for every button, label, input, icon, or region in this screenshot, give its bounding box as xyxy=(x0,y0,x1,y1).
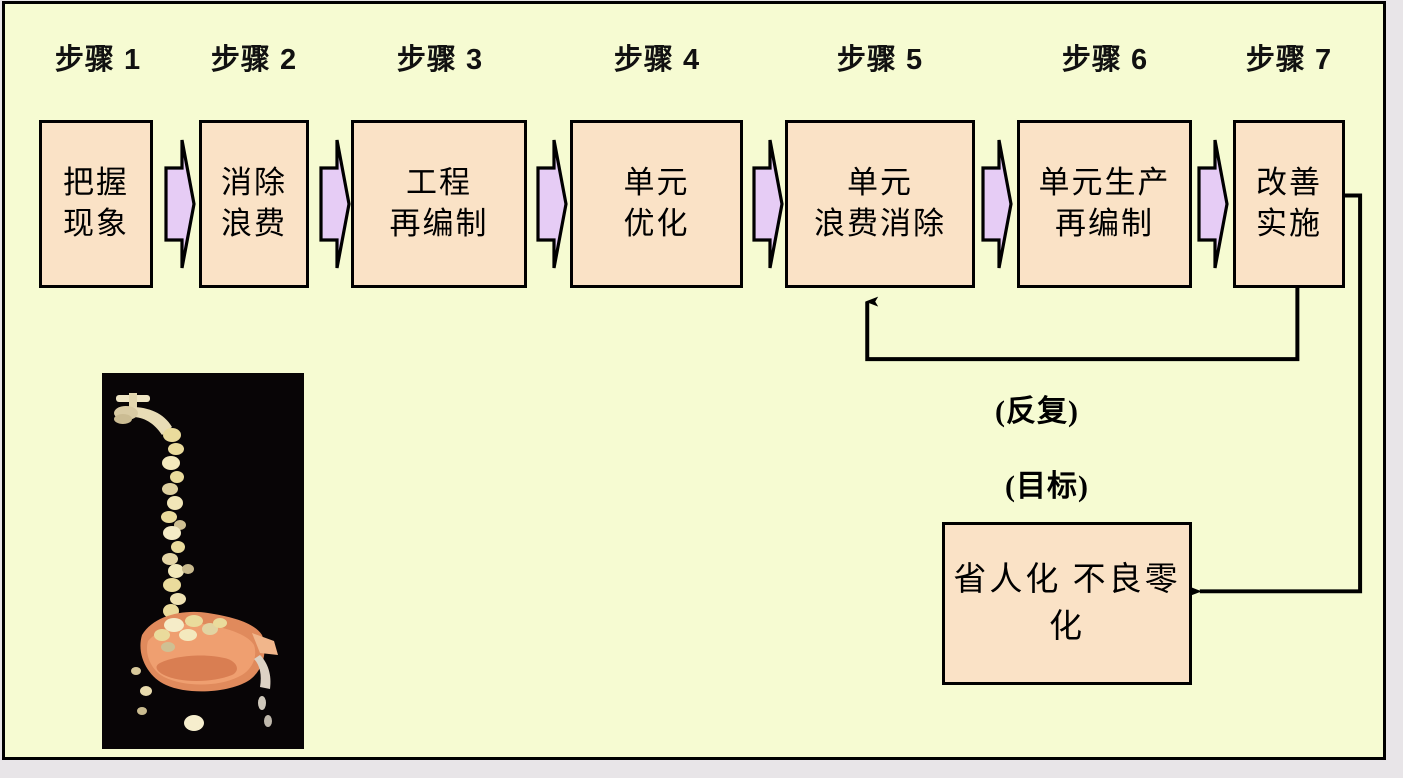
chevron-arrow-1-2 xyxy=(160,124,202,284)
step-box-3-line1: 工程 xyxy=(390,163,489,204)
coins-faucet-photo xyxy=(102,373,304,749)
step-box-5-line2: 浪费消除 xyxy=(814,204,946,245)
step-box-5-text: 单元 浪费消除 xyxy=(814,163,946,245)
step-box-4-text: 单元 优化 xyxy=(624,163,690,245)
step-box-6[interactable]: 单元生产 再编制 xyxy=(1017,120,1192,288)
step-box-7-text: 改善 实施 xyxy=(1256,163,1322,245)
step-box-1-text: 把握 现象 xyxy=(63,163,129,245)
photo-illustration xyxy=(102,373,304,749)
step-box-2-text: 消除 浪费 xyxy=(221,163,287,245)
chevron-icon xyxy=(532,124,574,284)
step-heading-4: 步骤 4 xyxy=(600,36,714,78)
step-heading-2: 步骤 2 xyxy=(197,36,311,78)
step-box-5[interactable]: 单元 浪费消除 xyxy=(785,120,975,288)
goal-box-text: 省人化 不良零化 xyxy=(945,557,1189,651)
step-box-2-line2: 浪费 xyxy=(221,204,287,245)
note-repeat: (反复) xyxy=(995,386,1079,430)
chevron-icon xyxy=(1193,124,1235,284)
goal-box-line1: 省人化 xyxy=(953,562,1061,598)
step-box-7-line1: 改善 xyxy=(1256,163,1322,204)
step-heading-6: 步骤 6 xyxy=(1048,36,1162,78)
step-box-1-line1: 把握 xyxy=(63,163,129,204)
chevron-arrow-2-3 xyxy=(315,124,357,284)
chevron-icon xyxy=(748,124,790,284)
step-box-2-line1: 消除 xyxy=(221,163,287,204)
step-heading-5: 步骤 5 xyxy=(823,36,937,78)
step-box-7-line2: 实施 xyxy=(1256,204,1322,245)
repeat-loop-path xyxy=(867,287,1297,359)
chevron-icon xyxy=(977,124,1019,284)
screenshot-page: 步骤 1 步骤 2 步骤 3 步骤 4 步骤 5 步骤 6 步骤 7 把握 现象… xyxy=(0,0,1403,778)
note-goal: (目标) xyxy=(1005,461,1089,505)
chevron-icon xyxy=(315,124,357,284)
step-box-3-line2: 再编制 xyxy=(390,204,489,245)
step-box-6-line1: 单元生产 xyxy=(1039,163,1171,204)
step-box-1[interactable]: 把握 现象 xyxy=(39,120,153,288)
goal-box[interactable]: 省人化 不良零化 xyxy=(942,522,1192,685)
step-box-6-text: 单元生产 再编制 xyxy=(1039,163,1171,245)
step-box-4[interactable]: 单元 优化 xyxy=(570,120,743,288)
step-box-6-line2: 再编制 xyxy=(1039,204,1171,245)
slide-canvas: 步骤 1 步骤 2 步骤 3 步骤 4 步骤 5 步骤 6 步骤 7 把握 现象… xyxy=(2,1,1386,760)
goal-box-line2: 不良零化 xyxy=(1049,562,1181,645)
step-box-1-line2: 现象 xyxy=(63,204,129,245)
step-box-3[interactable]: 工程 再编制 xyxy=(351,120,527,288)
step-box-4-line1: 单元 xyxy=(624,163,690,204)
step-box-5-line1: 单元 xyxy=(814,163,946,204)
chevron-arrow-4-5 xyxy=(748,124,790,284)
chevron-arrow-5-6 xyxy=(977,124,1019,284)
step-box-4-line2: 优化 xyxy=(624,204,690,245)
chevron-arrow-3-4 xyxy=(532,124,574,284)
step-heading-7: 步骤 7 xyxy=(1232,36,1346,78)
step-box-2[interactable]: 消除 浪费 xyxy=(199,120,309,288)
chevron-icon xyxy=(160,124,202,284)
step-box-7[interactable]: 改善 实施 xyxy=(1233,120,1345,288)
step-heading-3: 步骤 3 xyxy=(383,36,497,78)
chevron-arrow-6-7 xyxy=(1193,124,1235,284)
step-box-3-text: 工程 再编制 xyxy=(390,163,489,245)
step-heading-1: 步骤 1 xyxy=(41,36,155,78)
